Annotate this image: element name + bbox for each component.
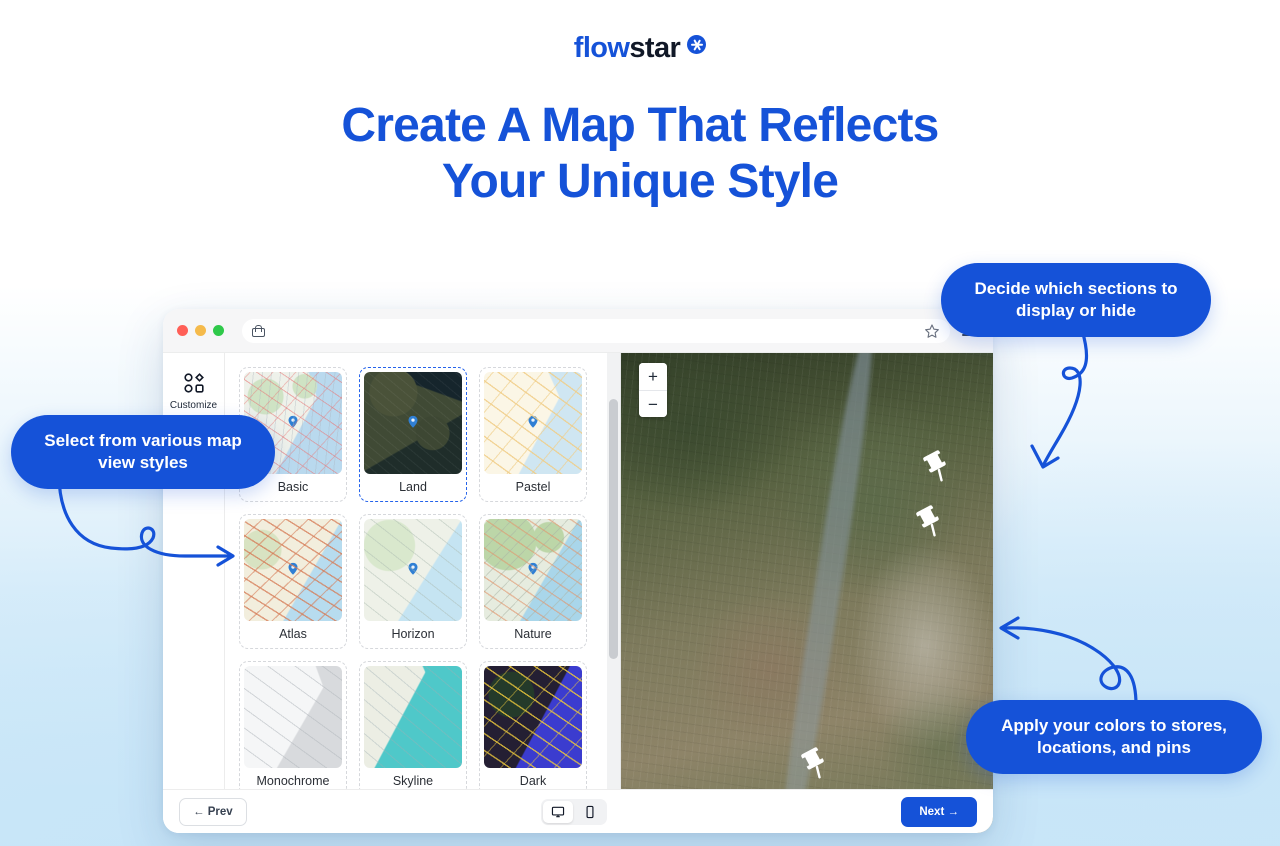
- map-pin-3[interactable]: [796, 745, 836, 785]
- map-style-label: Pastel: [484, 474, 582, 501]
- map-style-card[interactable]: Dark: [479, 661, 587, 796]
- map-viewport[interactable]: + −: [621, 353, 993, 833]
- next-button[interactable]: Next →: [901, 797, 977, 827]
- map-pin-1[interactable]: [918, 448, 958, 488]
- map-style-card[interactable]: Monochrome: [239, 661, 347, 796]
- app-body: Customize BasicLandPastelAtlasHorizonNat…: [163, 353, 993, 833]
- brand-logo-part1: flow: [574, 32, 630, 64]
- thumbnail-pin-icon: [409, 416, 418, 428]
- map-style-card[interactable]: Horizon: [359, 514, 467, 649]
- map-style-label: Atlas: [244, 621, 342, 648]
- sidebar-item-label: Customize: [170, 400, 217, 411]
- prev-button[interactable]: ← Prev: [179, 798, 247, 826]
- brand-logo-part2: star: [629, 32, 680, 64]
- thumbnail-pin-icon: [409, 563, 418, 575]
- lock-icon: [252, 325, 263, 337]
- map-zoom-controls[interactable]: + −: [639, 363, 667, 417]
- map-style-card[interactable]: Skyline: [359, 661, 467, 796]
- map-style-thumbnail: [484, 519, 582, 621]
- arrow-to-sections: [1020, 330, 1130, 520]
- callout-styles: Select from various map view styles: [11, 415, 275, 489]
- callout-colors: Apply your colors to stores, locations, …: [966, 700, 1262, 774]
- zoom-out-button[interactable]: −: [639, 390, 667, 417]
- maximize-window-button[interactable]: [213, 325, 224, 336]
- brand-logo: flowstar: [0, 34, 1280, 63]
- map-pin-2[interactable]: [911, 503, 951, 543]
- map-style-card[interactable]: Atlas: [239, 514, 347, 649]
- customize-shapes-icon: [182, 371, 206, 395]
- thumbnail-pin-icon: [289, 563, 298, 575]
- sidebar-item-customize[interactable]: Customize: [170, 371, 217, 411]
- asterisk-icon: [687, 35, 706, 54]
- window-traffic-lights: [177, 325, 224, 336]
- minimize-window-button[interactable]: [195, 325, 206, 336]
- desktop-preview-button[interactable]: [543, 801, 573, 823]
- desktop-icon: [551, 805, 565, 819]
- map-style-card[interactable]: Nature: [479, 514, 587, 649]
- map-style-thumbnail: [484, 666, 582, 768]
- map-style-thumbnail: [364, 666, 462, 768]
- address-bar[interactable]: [242, 319, 950, 343]
- scrollbar-thumb[interactable]: [609, 399, 618, 659]
- browser-toolbar: [163, 309, 993, 353]
- mobile-icon: [583, 805, 597, 819]
- map-style-card[interactable]: Land: [359, 367, 467, 502]
- map-urban-area: [822, 497, 993, 795]
- thumbnail-pin-icon: [529, 416, 538, 428]
- map-style-thumbnail: [244, 666, 342, 768]
- device-preview-toggle[interactable]: [541, 799, 607, 825]
- thumbnail-pin-icon: [289, 416, 298, 428]
- thumbnail-pin-icon: [529, 563, 538, 575]
- map-style-thumbnail: [484, 372, 582, 474]
- arrow-to-colors: [990, 605, 1150, 715]
- map-style-label: Land: [364, 474, 462, 501]
- mobile-preview-button[interactable]: [575, 801, 605, 823]
- browser-window: Customize BasicLandPastelAtlasHorizonNat…: [163, 309, 993, 833]
- map-style-thumbnail: [364, 519, 462, 621]
- zoom-in-button[interactable]: +: [639, 363, 667, 390]
- map-style-thumbnail: [244, 519, 342, 621]
- map-style-label: Horizon: [364, 621, 462, 648]
- wizard-toolbar: ← Prev Next →: [163, 789, 993, 833]
- callout-sections: Decide which sections to display or hide: [941, 263, 1211, 337]
- headline-line-1: Create A Map That Reflects: [341, 99, 938, 152]
- map-style-label: Nature: [484, 621, 582, 648]
- headline-line-2: Your Unique Style: [0, 154, 1280, 210]
- star-icon[interactable]: [924, 323, 940, 339]
- map-style-picker[interactable]: BasicLandPastelAtlasHorizonNatureMonochr…: [225, 353, 607, 833]
- page-title: Create A Map That Reflects Your Unique S…: [0, 98, 1280, 209]
- style-picker-scrollbar[interactable]: [607, 353, 621, 833]
- close-window-button[interactable]: [177, 325, 188, 336]
- map-style-card[interactable]: Pastel: [479, 367, 587, 502]
- map-style-thumbnail: [364, 372, 462, 474]
